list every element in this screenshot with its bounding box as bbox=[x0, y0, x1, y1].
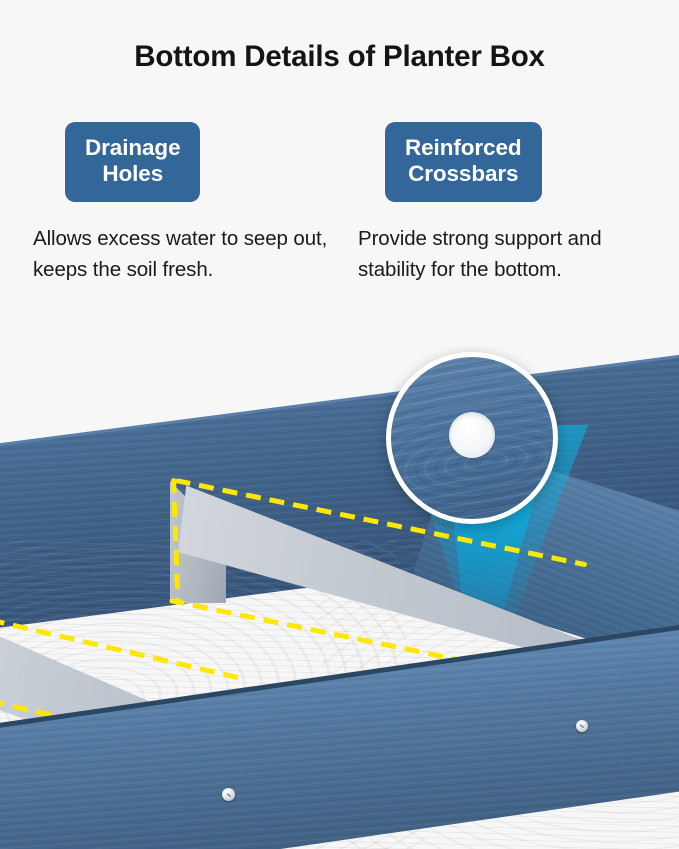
infographic-page: Bottom Details of Planter Box Drainage H… bbox=[0, 0, 679, 849]
badge-wrap: Reinforced Crossbars bbox=[385, 122, 657, 202]
screw-slot bbox=[226, 792, 231, 796]
page-title: Bottom Details of Planter Box bbox=[0, 40, 679, 74]
feature-column-reinforced-crossbars: Reinforced Crossbars Provide strong supp… bbox=[357, 122, 657, 285]
badge-label-line1: Reinforced bbox=[405, 135, 522, 161]
text-panel: Bottom Details of Planter Box Drainage H… bbox=[0, 0, 679, 345]
feature-badge-drainage-holes[interactable]: Drainage Holes bbox=[65, 122, 200, 202]
product-photo bbox=[0, 330, 679, 849]
badge-wrap: Drainage Holes bbox=[65, 122, 322, 202]
feature-column-drainage-holes: Drainage Holes Allows excess water to se… bbox=[22, 122, 322, 285]
badge-label-line2: Holes bbox=[85, 161, 180, 187]
drainage-hole-closeup bbox=[449, 412, 495, 458]
screw-slot bbox=[579, 724, 584, 728]
feature-description-reinforced-crossbars: Provide strong support and stability for… bbox=[358, 224, 656, 285]
screw-head bbox=[222, 788, 235, 801]
feature-description-drainage-holes: Allows excess water to seep out, keeps t… bbox=[33, 224, 329, 285]
badge-label-line2: Crossbars bbox=[405, 161, 522, 187]
feature-badge-reinforced-crossbars[interactable]: Reinforced Crossbars bbox=[385, 122, 542, 202]
screw-head bbox=[576, 720, 588, 732]
badge-label-line1: Drainage bbox=[85, 135, 180, 161]
magnifier-circle bbox=[386, 352, 558, 524]
